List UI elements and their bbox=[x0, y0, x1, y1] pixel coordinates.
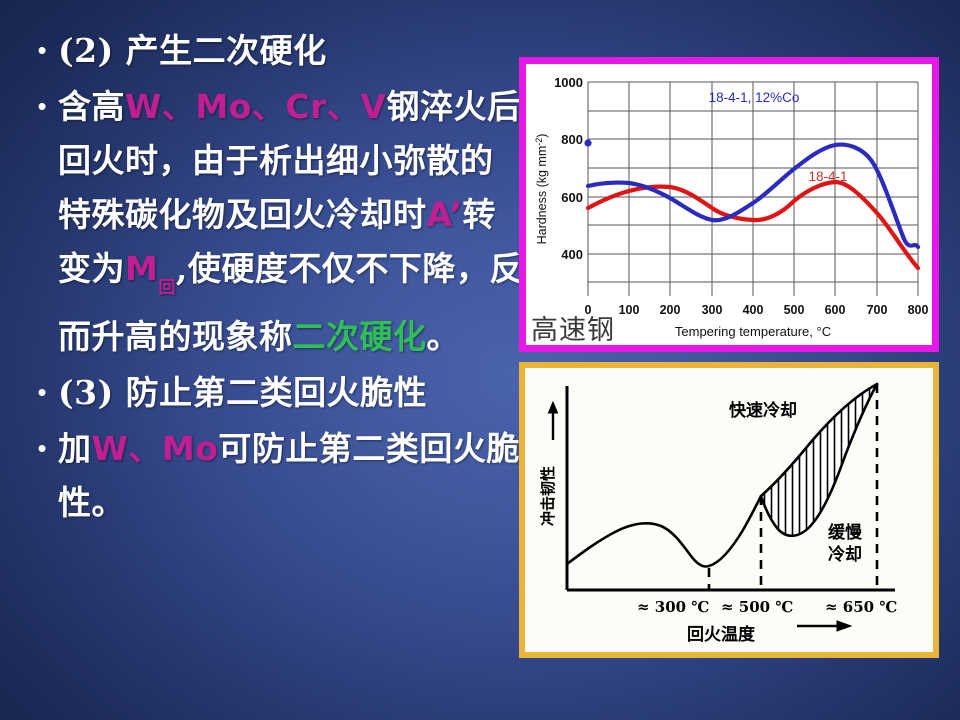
y-tick-600: 600 bbox=[561, 190, 583, 205]
bullet-item-3: (3) 防止第二类回火脆性 bbox=[26, 366, 526, 420]
seg-phase-m-subscript: 回 bbox=[158, 278, 176, 298]
y-axis-title: Hardness (kg mm-2) bbox=[534, 134, 549, 245]
bullet-text-2: 含高W、Mo、Cr、V钢淬火后回火时，由于析出细小弥散的特殊碳化物及回火冷却时A… bbox=[58, 80, 526, 364]
toughness-chart-frame: 冲击韧性 快速冷却 缓慢 冷却 bbox=[519, 362, 939, 658]
x-tick-650c: ≈ 650 ℃ bbox=[825, 598, 897, 616]
x-tick-300c: ≈ 300 ℃ bbox=[637, 598, 709, 616]
x-tick-labels: 0 100 200 300 400 500 600 700 800 bbox=[585, 303, 929, 317]
x-tick-500c: ≈ 500 ℃ bbox=[721, 598, 793, 616]
x-tick-300: 300 bbox=[702, 303, 723, 317]
toughness-chart-inner: 冲击韧性 快速冷却 缓慢 冷却 bbox=[525, 368, 933, 652]
y-tick-1000: 1000 bbox=[554, 75, 583, 90]
seg-plain: 。 bbox=[427, 317, 461, 356]
series-start-marker bbox=[584, 139, 591, 146]
seg-sep: 、 bbox=[327, 87, 361, 126]
svg-text:冷却: 冷却 bbox=[828, 544, 862, 565]
bullet-3-text: (3) 防止第二类回火脆性 bbox=[58, 373, 427, 412]
bullet-item-4: 加W、Mo可防止第二类回火脆性。 bbox=[26, 422, 526, 530]
x-tick-500: 500 bbox=[784, 303, 805, 317]
svg-text:缓慢: 缓慢 bbox=[828, 522, 863, 543]
bullet-text-3: (3) 防止第二类回火脆性 bbox=[58, 366, 526, 420]
x-tick-800: 800 bbox=[908, 303, 929, 317]
seg-secondary-hardening: 二次硬化 bbox=[293, 317, 427, 356]
x-tick-600: 600 bbox=[825, 303, 846, 317]
bullet-1-text: (2) 产生二次硬化 bbox=[58, 31, 327, 70]
x-tick-400: 400 bbox=[743, 303, 764, 317]
y-tick-800: 800 bbox=[561, 132, 583, 147]
seg-element-cr: Cr bbox=[285, 87, 327, 126]
x-axis-arrow-icon bbox=[797, 621, 851, 631]
seg-sep: 、 bbox=[252, 87, 286, 126]
bullet-text-1: (2) 产生二次硬化 bbox=[58, 24, 526, 78]
hardness-chart-svg: 1000 800 600 400 Hardness (kg mm-2) 0 10… bbox=[526, 64, 932, 345]
bullet-text-4: 加W、Mo可防止第二类回火脆性。 bbox=[58, 422, 526, 530]
label-slow-cooling: 缓慢 冷却 bbox=[828, 522, 863, 565]
seg-element-w: W bbox=[125, 87, 162, 126]
bullet-marker-icon bbox=[26, 366, 58, 418]
seg-sep: 、 bbox=[128, 429, 162, 468]
x-axis-title: 回火温度 bbox=[687, 624, 756, 645]
toughness-chart-svg: 冲击韧性 快速冷却 缓慢 冷却 bbox=[525, 368, 933, 652]
x-axis-title: Tempering temperature, °C bbox=[675, 324, 831, 339]
seg-phase-m: M bbox=[125, 249, 158, 288]
y-tick-400: 400 bbox=[561, 247, 583, 262]
label-fast-cooling: 快速冷却 bbox=[729, 400, 797, 421]
seg-plain: 加 bbox=[58, 429, 92, 468]
x-tick-100: 100 bbox=[619, 303, 640, 317]
bullet-marker-icon bbox=[26, 422, 58, 474]
bullet-item-1: (2) 产生二次硬化 bbox=[26, 24, 526, 78]
hardness-chart-inner: 1000 800 600 400 Hardness (kg mm-2) 0 10… bbox=[526, 64, 932, 345]
seg-element-mo: Mo bbox=[162, 429, 219, 468]
bullet-marker-icon bbox=[26, 24, 58, 76]
seg-phase-a-prime: A’ bbox=[427, 195, 463, 234]
seg-element-v: V bbox=[360, 87, 386, 126]
annotation-18-4-1: 18-4-1 bbox=[808, 169, 847, 184]
high-speed-steel-label: 高速钢 bbox=[531, 308, 615, 347]
y-axis-arrow-icon bbox=[548, 402, 557, 440]
x-tick-labels: ≈ 300 ℃ ≈ 500 ℃ ≈ 650 ℃ bbox=[637, 598, 897, 616]
bullet-item-2: 含高W、Mo、Cr、V钢淬火后回火时，由于析出细小弥散的特殊碳化物及回火冷却时A… bbox=[26, 80, 526, 364]
bullet-list: (2) 产生二次硬化 含高W、Mo、Cr、V钢淬火后回火时，由于析出细小弥散的特… bbox=[26, 24, 526, 532]
slide-canvas: (2) 产生二次硬化 含高W、Mo、Cr、V钢淬火后回火时，由于析出细小弥散的特… bbox=[0, 0, 960, 720]
seg-plain: 含高 bbox=[58, 87, 125, 126]
y-axis-title: 冲击韧性 bbox=[539, 466, 557, 526]
x-tick-200: 200 bbox=[660, 303, 681, 317]
seg-element-w: W bbox=[92, 429, 129, 468]
seg-element-mo: Mo bbox=[195, 87, 252, 126]
bullet-marker-icon bbox=[26, 80, 58, 132]
y-tick-labels: 1000 800 600 400 bbox=[554, 75, 583, 262]
x-tick-700: 700 bbox=[867, 303, 888, 317]
annotation-18-4-1-12co: 18-4-1, 12%Co bbox=[709, 90, 800, 105]
seg-sep: 、 bbox=[162, 87, 196, 126]
